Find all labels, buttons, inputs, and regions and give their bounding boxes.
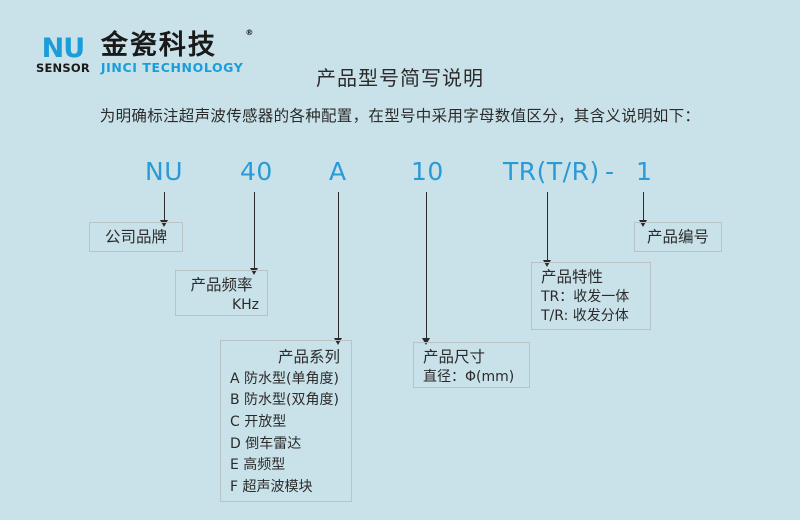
series-item-b: B 防水型(双角度) — [230, 390, 344, 412]
callout-serial-title: 产品编号 — [641, 227, 715, 248]
code-token-series: A — [329, 159, 347, 184]
callout-box-series: 产品系列 A 防水型(单角度) B 防水型(双角度) C 开放型 D 倒车雷达 … — [220, 340, 352, 502]
series-item-f: F 超声波模块 — [230, 477, 344, 499]
callout-box-feature: 产品特性 TR：收发一体 T/R: 收发分体 — [531, 262, 651, 330]
series-item-e: E 高频型 — [230, 455, 344, 477]
connector-line-brand — [164, 192, 165, 222]
connector-line-frequency — [254, 192, 255, 270]
page-title: 产品型号简写说明 — [0, 62, 800, 91]
callout-feature-line-t-r: T/R: 收发分体 — [541, 307, 641, 326]
connector-line-feature — [547, 192, 548, 262]
code-token-frequency: 40 — [240, 159, 273, 184]
code-token-size: 10 — [411, 159, 444, 184]
code-token-feature: TR(T/R) — [503, 159, 600, 184]
series-item-a: A 防水型(单角度) — [230, 369, 344, 391]
callout-size-spec: 直径：Φ(mm) — [423, 368, 520, 387]
callout-box-size: 产品尺寸 直径：Φ(mm) — [413, 342, 530, 388]
code-token-serial: 1 — [636, 159, 652, 184]
series-item-c: C 开放型 — [230, 412, 344, 434]
callout-box-frequency: 产品频率 KHz — [175, 270, 268, 316]
registered-trademark-icon: ® — [245, 29, 253, 37]
series-item-d: D 倒车雷达 — [230, 434, 344, 456]
callout-brand-title: 公司品牌 — [98, 227, 174, 248]
connector-line-serial — [643, 192, 644, 222]
callout-box-brand: 公司品牌 — [89, 222, 183, 252]
callout-frequency-title: 产品频率 — [184, 275, 259, 296]
connector-line-size — [426, 192, 427, 340]
callout-series-title: 产品系列 — [230, 347, 344, 368]
callout-frequency-unit: KHz — [184, 296, 259, 315]
connector-line-series — [338, 192, 339, 340]
callout-feature-title: 产品特性 — [541, 267, 641, 288]
diagram-canvas: NU SENSOR 金瓷科技 ® JINCI TECHNOLOGY 产品型号简写… — [0, 0, 800, 520]
callout-box-serial: 产品编号 — [634, 222, 722, 252]
logo-chinese-name: 金瓷科技 — [101, 31, 244, 60]
callout-size-title: 产品尺寸 — [423, 347, 520, 368]
page-subtitle: 为明确标注超声波传感器的各种配置，在型号中采用字母数值区分，其含义说明如下： — [0, 104, 800, 126]
callout-feature-line-tr: TR：收发一体 — [541, 288, 641, 307]
logo-nu-text: NU — [42, 35, 85, 63]
code-token-brand: NU — [145, 159, 183, 184]
code-token-separator: - — [605, 159, 615, 184]
